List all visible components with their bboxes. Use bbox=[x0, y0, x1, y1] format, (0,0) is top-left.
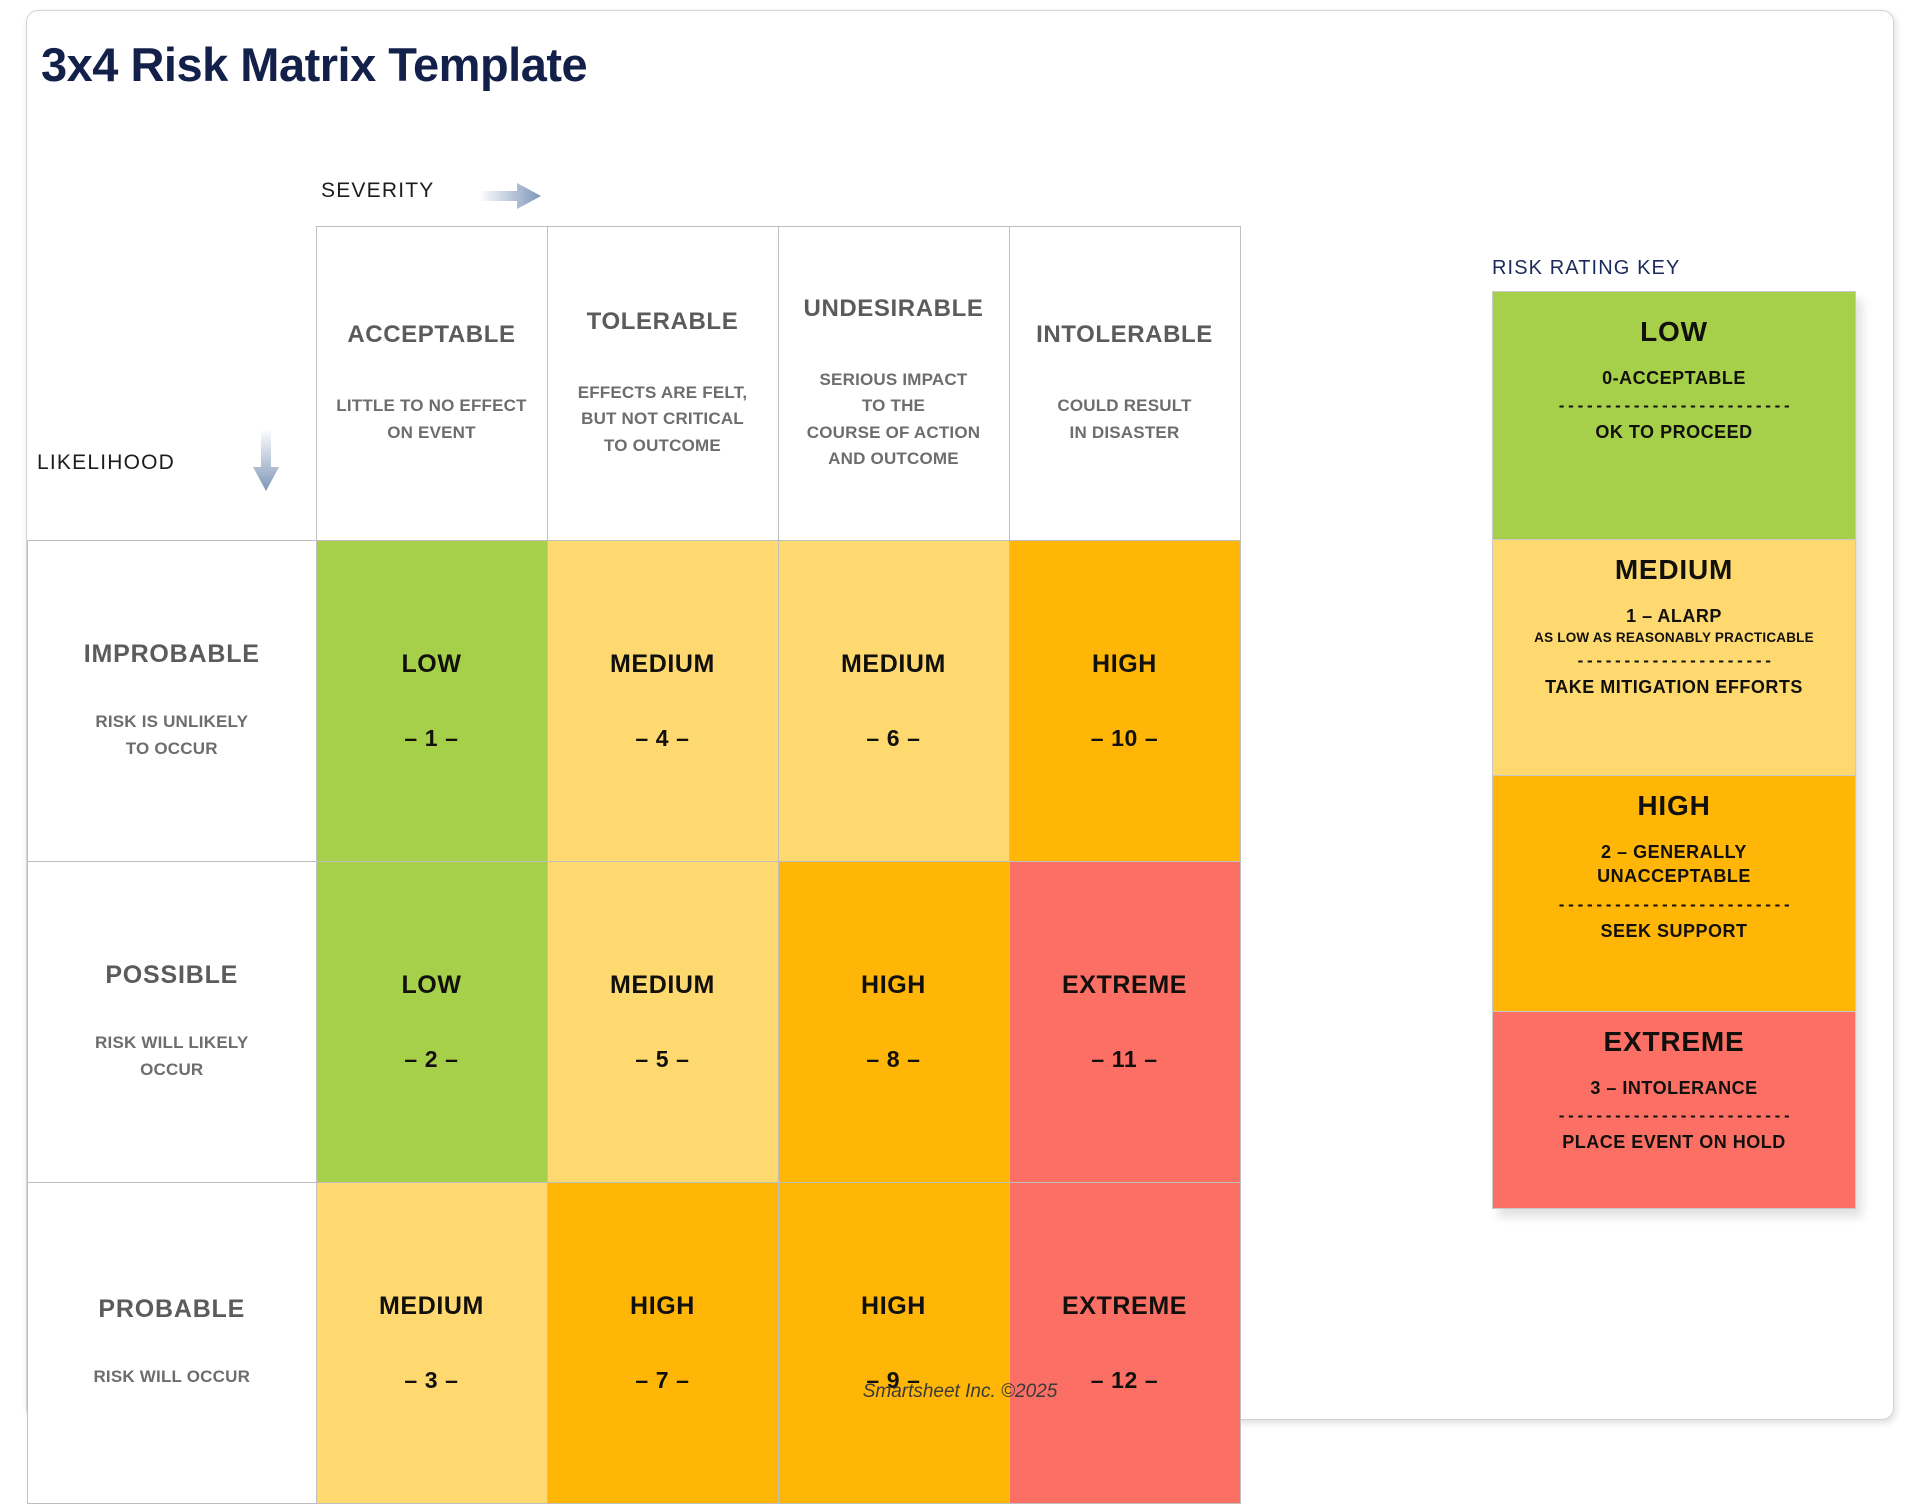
code-line: 2 – GENERALLY bbox=[1501, 840, 1847, 864]
matrix-cell[interactable]: LOW – 1 – bbox=[316, 541, 547, 862]
cell-score: – 10 – bbox=[1010, 725, 1240, 752]
key-segment-code: 0-ACCEPTABLE bbox=[1501, 366, 1847, 390]
desc-line: EFFECTS ARE FELT, bbox=[554, 380, 772, 406]
row-header-1: POSSIBLE RISK WILL LIKELY OCCUR bbox=[28, 862, 317, 1183]
matrix-cell[interactable]: MEDIUM – 3 – bbox=[316, 1183, 547, 1504]
cell-rating: EXTREME bbox=[1010, 1292, 1240, 1321]
matrix-cell[interactable]: HIGH – 10 – bbox=[1009, 541, 1240, 862]
key-segment-name: EXTREME bbox=[1501, 1026, 1847, 1058]
cell-rating: HIGH bbox=[1010, 650, 1240, 679]
key-segment-high[interactable]: HIGH 2 – GENERALLY UNACCEPTABLE - - - - … bbox=[1493, 776, 1855, 1012]
row-description: RISK WILL LIKELY OCCUR bbox=[44, 1030, 300, 1083]
desc-line: ON EVENT bbox=[323, 420, 541, 446]
key-segment-action: TAKE MITIGATION EFFORTS bbox=[1501, 677, 1847, 698]
column-title: UNDESIRABLE bbox=[785, 295, 1003, 323]
cell-score: – 8 – bbox=[779, 1046, 1009, 1073]
column-title: ACCEPTABLE bbox=[323, 321, 541, 349]
column-description: SERIOUS IMPACT TO THE COURSE OF ACTION A… bbox=[785, 367, 1003, 472]
column-header-2: UNDESIRABLE SERIOUS IMPACT TO THE COURSE… bbox=[778, 227, 1009, 541]
matrix-row-probable: PROBABLE RISK WILL OCCUR MEDIUM – 3 – HI… bbox=[28, 1183, 1241, 1504]
cell-rating: LOW bbox=[317, 650, 547, 679]
template-page: 3x4 Risk Matrix Template SEVERITY LIKELI… bbox=[26, 10, 1894, 1420]
key-segment-medium[interactable]: MEDIUM 1 – ALARP AS LOW AS REASONABLY PR… bbox=[1493, 540, 1855, 776]
row-title: PROBABLE bbox=[44, 1295, 300, 1324]
key-segment-low[interactable]: LOW 0-ACCEPTABLE - - - - - - - - - - - -… bbox=[1493, 292, 1855, 540]
desc-line: AND OUTCOME bbox=[785, 446, 1003, 472]
cell-rating: MEDIUM bbox=[779, 650, 1009, 679]
arrow-right-icon bbox=[479, 183, 541, 209]
key-segment-name: HIGH bbox=[1501, 790, 1847, 822]
row-header-0: IMPROBABLE RISK IS UNLIKELY TO OCCUR bbox=[28, 541, 317, 862]
key-segment-action: SEEK SUPPORT bbox=[1501, 921, 1847, 942]
key-segment-divider: - - - - - - - - - - - - - - - - - - - - … bbox=[1501, 651, 1847, 671]
matrix-header-row: ACCEPTABLE LITTLE TO NO EFFECT ON EVENT … bbox=[28, 227, 1241, 541]
cell-rating: HIGH bbox=[548, 1292, 778, 1321]
risk-rating-key: RISK RATING KEY LOW 0-ACCEPTABLE - - - -… bbox=[1492, 257, 1856, 1209]
row-title: POSSIBLE bbox=[44, 961, 300, 990]
footer-copyright: Smartsheet Inc. ©2025 bbox=[27, 1381, 1893, 1403]
matrix-cell[interactable]: HIGH – 7 – bbox=[547, 1183, 778, 1504]
column-header-3: INTOLERABLE COULD RESULT IN DISASTER bbox=[1009, 227, 1240, 541]
cell-score: – 6 – bbox=[779, 725, 1009, 752]
key-segment-action: OK TO PROCEED bbox=[1501, 422, 1847, 443]
desc-line: OCCUR bbox=[44, 1057, 300, 1083]
column-header-1: TOLERABLE EFFECTS ARE FELT, BUT NOT CRIT… bbox=[547, 227, 778, 541]
desc-line: SERIOUS IMPACT bbox=[785, 367, 1003, 393]
row-title: IMPROBABLE bbox=[44, 640, 300, 669]
column-description: COULD RESULT IN DISASTER bbox=[1016, 393, 1234, 446]
key-segment-divider: - - - - - - - - - - - - - - - - - - - - … bbox=[1501, 1106, 1847, 1126]
key-segment-divider: - - - - - - - - - - - - - - - - - - - - … bbox=[1501, 895, 1847, 915]
matrix-cell[interactable]: EXTREME – 12 – bbox=[1009, 1183, 1240, 1504]
key-segment-extreme[interactable]: EXTREME 3 – INTOLERANCE - - - - - - - - … bbox=[1493, 1012, 1855, 1208]
matrix-cell[interactable]: EXTREME – 11 – bbox=[1009, 862, 1240, 1183]
desc-line: LITTLE TO NO EFFECT bbox=[323, 393, 541, 419]
cell-score: – 4 – bbox=[548, 725, 778, 752]
matrix-cell[interactable]: LOW – 2 – bbox=[316, 862, 547, 1183]
desc-line: COURSE OF ACTION bbox=[785, 420, 1003, 446]
matrix-row-possible: POSSIBLE RISK WILL LIKELY OCCUR LOW – 2 … bbox=[28, 862, 1241, 1183]
column-header-0: ACCEPTABLE LITTLE TO NO EFFECT ON EVENT bbox=[316, 227, 547, 541]
severity-axis-label: SEVERITY bbox=[321, 179, 434, 203]
cell-rating: MEDIUM bbox=[548, 650, 778, 679]
risk-matrix-table: ACCEPTABLE LITTLE TO NO EFFECT ON EVENT … bbox=[27, 226, 1241, 1504]
cell-score: – 5 – bbox=[548, 1046, 778, 1073]
cell-rating: HIGH bbox=[779, 971, 1009, 1000]
desc-line: RISK IS UNLIKELY bbox=[44, 709, 300, 735]
matrix-cell[interactable]: MEDIUM – 6 – bbox=[778, 541, 1009, 862]
matrix-cell[interactable]: MEDIUM – 4 – bbox=[547, 541, 778, 862]
key-segment-name: MEDIUM bbox=[1501, 554, 1847, 586]
code-line: UNACCEPTABLE bbox=[1501, 864, 1847, 888]
column-description: LITTLE TO NO EFFECT ON EVENT bbox=[323, 393, 541, 446]
key-segment-action: PLACE EVENT ON HOLD bbox=[1501, 1132, 1847, 1153]
cell-rating: EXTREME bbox=[1010, 971, 1240, 1000]
matrix-cell[interactable]: MEDIUM – 5 – bbox=[547, 862, 778, 1183]
desc-line: TO THE bbox=[785, 393, 1003, 419]
matrix-corner-cell bbox=[28, 227, 317, 541]
desc-line: TO OCCUR bbox=[44, 736, 300, 762]
column-description: EFFECTS ARE FELT, BUT NOT CRITICAL TO OU… bbox=[554, 380, 772, 459]
column-title: TOLERABLE bbox=[554, 308, 772, 336]
desc-line: RISK WILL LIKELY bbox=[44, 1030, 300, 1056]
key-segment-divider: - - - - - - - - - - - - - - - - - - - - … bbox=[1501, 396, 1847, 416]
key-segment-code: 2 – GENERALLY UNACCEPTABLE bbox=[1501, 840, 1847, 889]
cell-score: – 1 – bbox=[317, 725, 547, 752]
cell-rating: LOW bbox=[317, 971, 547, 1000]
desc-line: COULD RESULT bbox=[1016, 393, 1234, 419]
key-segment-code: 1 – ALARP bbox=[1501, 604, 1847, 628]
row-header-2: PROBABLE RISK WILL OCCUR bbox=[28, 1183, 317, 1504]
column-title: INTOLERABLE bbox=[1016, 321, 1234, 349]
row-description: RISK IS UNLIKELY TO OCCUR bbox=[44, 709, 300, 762]
desc-line: BUT NOT CRITICAL bbox=[554, 406, 772, 432]
cell-score: – 2 – bbox=[317, 1046, 547, 1073]
matrix-cell[interactable]: HIGH – 8 – bbox=[778, 862, 1009, 1183]
matrix-cell[interactable]: HIGH – 9 – bbox=[778, 1183, 1009, 1504]
cell-rating: MEDIUM bbox=[317, 1292, 547, 1321]
matrix-row-improbable: IMPROBABLE RISK IS UNLIKELY TO OCCUR LOW… bbox=[28, 541, 1241, 862]
risk-rating-key-box: LOW 0-ACCEPTABLE - - - - - - - - - - - -… bbox=[1492, 291, 1856, 1209]
key-segment-name: LOW bbox=[1501, 316, 1847, 348]
cell-rating: HIGH bbox=[779, 1292, 1009, 1321]
page-title: 3x4 Risk Matrix Template bbox=[41, 37, 587, 92]
cell-rating: MEDIUM bbox=[548, 971, 778, 1000]
key-segment-code: 3 – INTOLERANCE bbox=[1501, 1076, 1847, 1100]
desc-line: TO OUTCOME bbox=[554, 433, 772, 459]
risk-rating-key-title: RISK RATING KEY bbox=[1492, 257, 1856, 280]
cell-score: – 11 – bbox=[1010, 1046, 1240, 1073]
desc-line: IN DISASTER bbox=[1016, 420, 1234, 446]
key-segment-subtext: AS LOW AS REASONABLY PRACTICABLE bbox=[1501, 630, 1847, 645]
